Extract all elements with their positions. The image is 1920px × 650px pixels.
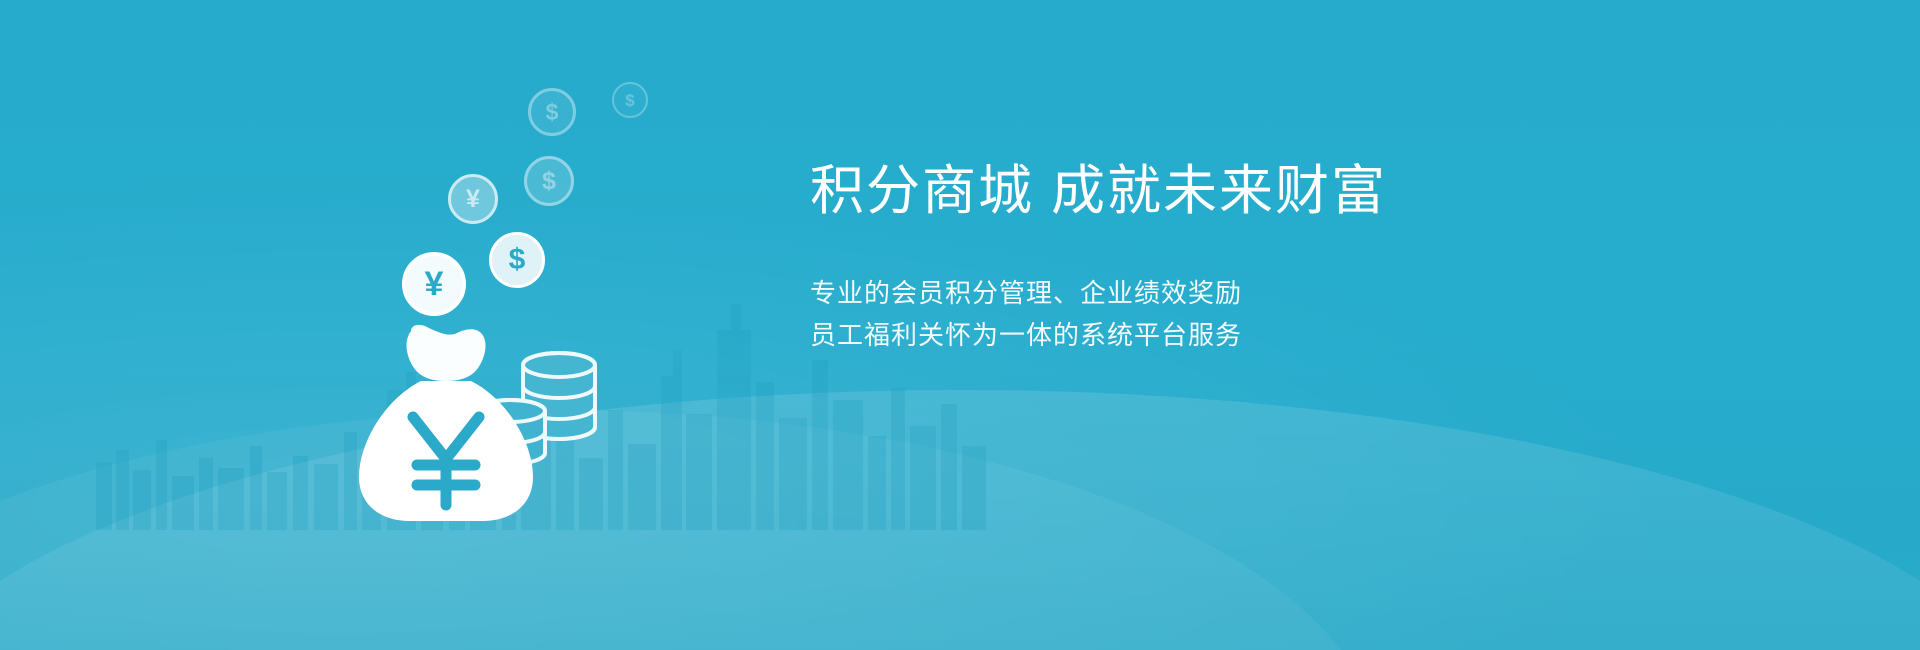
banner-text-block: 积分商城 成就未来财富 专业的会员积分管理、企业绩效奖励 员工福利关怀为一体的系…: [810, 160, 1510, 356]
banner-subtitle: 专业的会员积分管理、企业绩效奖励 员工福利关怀为一体的系统平台服务: [810, 272, 1510, 356]
coin-symbol: ¥: [466, 187, 480, 212]
coin-symbol: $: [509, 245, 526, 275]
coin-symbol: $: [542, 169, 556, 194]
floating-coin-yen-2: ¥: [448, 174, 498, 224]
money-bag-neck: [407, 325, 486, 381]
banner-headline: 积分商城 成就未来财富: [810, 160, 1510, 224]
coin-symbol: $: [625, 92, 634, 109]
floating-coin-yen-1: ¥: [402, 252, 466, 316]
coin-symbol: $: [546, 101, 559, 124]
floating-coin-dollar-4: $: [528, 88, 576, 136]
subtitle-line-1: 专业的会员积分管理、企业绩效奖励: [810, 272, 1510, 314]
floating-coin-dollar-5: $: [612, 82, 648, 118]
floating-coin-dollar-3: $: [524, 156, 574, 206]
money-bag-illustration: [345, 325, 615, 525]
promo-banner: $ $ $ ¥ $ ¥: [0, 0, 1920, 650]
coin-symbol: ¥: [425, 267, 444, 301]
floating-coin-dollar-1: $: [489, 232, 545, 288]
subtitle-line-2: 员工福利关怀为一体的系统平台服务: [810, 314, 1510, 356]
